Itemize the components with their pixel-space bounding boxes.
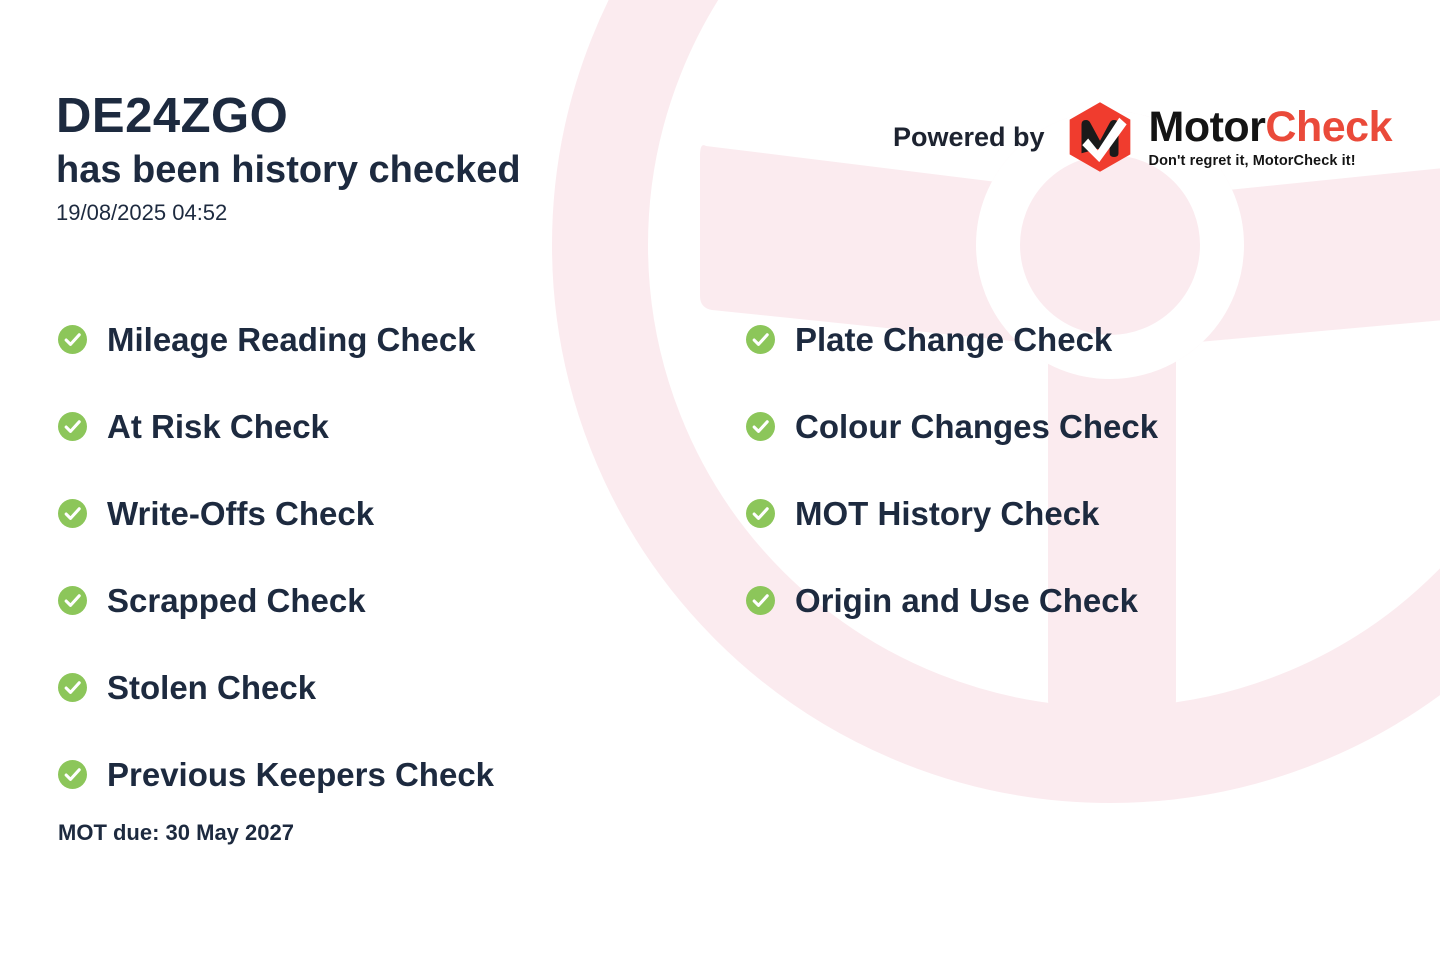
green-check-circle-icon [746, 586, 775, 615]
check-label: At Risk Check [107, 410, 329, 443]
check-label: Colour Changes Check [795, 410, 1158, 443]
check-item: Previous Keepers Check [58, 731, 494, 818]
check-item: Origin and Use Check [746, 557, 1158, 644]
check-timestamp: 19/08/2025 04:52 [56, 201, 521, 225]
check-label: Origin and Use Check [795, 584, 1138, 617]
powered-by-brand-bar: Powered by MotorCheck Don't regret it, M… [893, 100, 1392, 174]
check-label: Stolen Check [107, 671, 316, 704]
check-item: At Risk Check [58, 383, 494, 470]
green-check-circle-icon [746, 499, 775, 528]
check-label: Write-Offs Check [107, 497, 374, 530]
page-title: has been history checked [56, 151, 521, 191]
motorcheck-hexagon-icon [1063, 100, 1137, 174]
green-check-circle-icon [58, 499, 87, 528]
check-item: MOT History Check [746, 470, 1158, 557]
check-label: Plate Change Check [795, 323, 1112, 356]
green-check-circle-icon [746, 412, 775, 441]
wordmark-check: Check [1265, 103, 1392, 151]
powered-by-label: Powered by [893, 122, 1045, 153]
green-check-circle-icon [58, 412, 87, 441]
green-check-circle-icon [58, 325, 87, 354]
check-label: Scrapped Check [107, 584, 366, 617]
check-label: MOT History Check [795, 497, 1099, 530]
check-item: Scrapped Check [58, 557, 494, 644]
check-label: Mileage Reading Check [107, 323, 476, 356]
report-header: DE24ZGO has been history checked 19/08/2… [56, 92, 521, 225]
wordmark-motor: Motor [1149, 103, 1266, 151]
green-check-circle-icon [58, 673, 87, 702]
check-item: Stolen Check [58, 644, 494, 731]
check-item: Mileage Reading Check [58, 296, 494, 383]
motorcheck-logo[interactable]: MotorCheck Don't regret it, MotorCheck i… [1063, 100, 1392, 174]
motorcheck-wordmark: MotorCheck Don't regret it, MotorCheck i… [1149, 106, 1392, 169]
check-item: Colour Changes Check [746, 383, 1158, 470]
wordmark-line: MotorCheck [1149, 106, 1392, 149]
green-check-circle-icon [58, 760, 87, 789]
check-label: Previous Keepers Check [107, 758, 494, 791]
check-item: Plate Change Check [746, 296, 1158, 383]
check-item: Write-Offs Check [58, 470, 494, 557]
green-check-circle-icon [746, 325, 775, 354]
history-check-banner: DE24ZGO has been history checked 19/08/2… [0, 0, 1440, 960]
checks-column-right: Plate Change Check Colour Changes Check … [746, 296, 1158, 644]
vehicle-registration: DE24ZGO [56, 92, 521, 141]
green-check-circle-icon [58, 586, 87, 615]
mot-due-note: MOT due: 30 May 2027 [58, 820, 294, 846]
brand-tagline: Don't regret it, MotorCheck it! [1149, 154, 1392, 169]
checks-column-left: Mileage Reading Check At Risk Check Writ… [58, 296, 494, 818]
